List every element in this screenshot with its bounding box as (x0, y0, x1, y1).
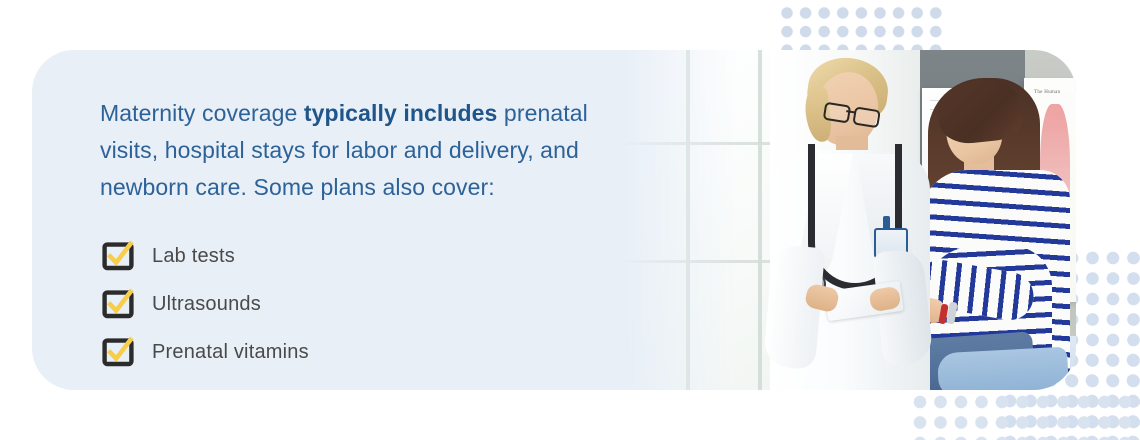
photo-doctor-glasses-left-lens (823, 102, 851, 124)
photo-patient-jeans-light (937, 347, 1069, 390)
headline-part-before: Maternity coverage (100, 100, 304, 126)
photo-scene: The Human (620, 50, 1076, 390)
list-item: Prenatal vitamins (104, 328, 645, 376)
maternity-coverage-banner: The Human (0, 0, 1140, 440)
dot-grid-bottom-left-icon (910, 392, 1140, 440)
headline-part-bold: typically includes (304, 100, 498, 126)
headline: Maternity coverage typically includes pr… (100, 95, 645, 206)
photo-poster-title: The Human (1034, 90, 1060, 95)
checkbox-checked-icon (104, 291, 132, 318)
list-item: Ultrasounds (104, 280, 645, 328)
card-content: Maternity coverage typically includes pr… (100, 95, 645, 376)
feature-label: Prenatal vitamins (152, 341, 309, 364)
dot-grid-top-right-icon (778, 4, 946, 50)
feature-label: Lab tests (152, 245, 235, 268)
checkbox-checked-icon (104, 339, 132, 366)
feature-list: Lab tests Ultrasounds (104, 232, 645, 376)
photo-doctor-glasses-right-lens (852, 106, 880, 128)
list-item: Lab tests (104, 232, 645, 280)
checkbox-checked-icon (104, 243, 132, 270)
photo-doctor-and-patient: The Human (620, 50, 1076, 390)
feature-label: Ultrasounds (152, 293, 261, 316)
